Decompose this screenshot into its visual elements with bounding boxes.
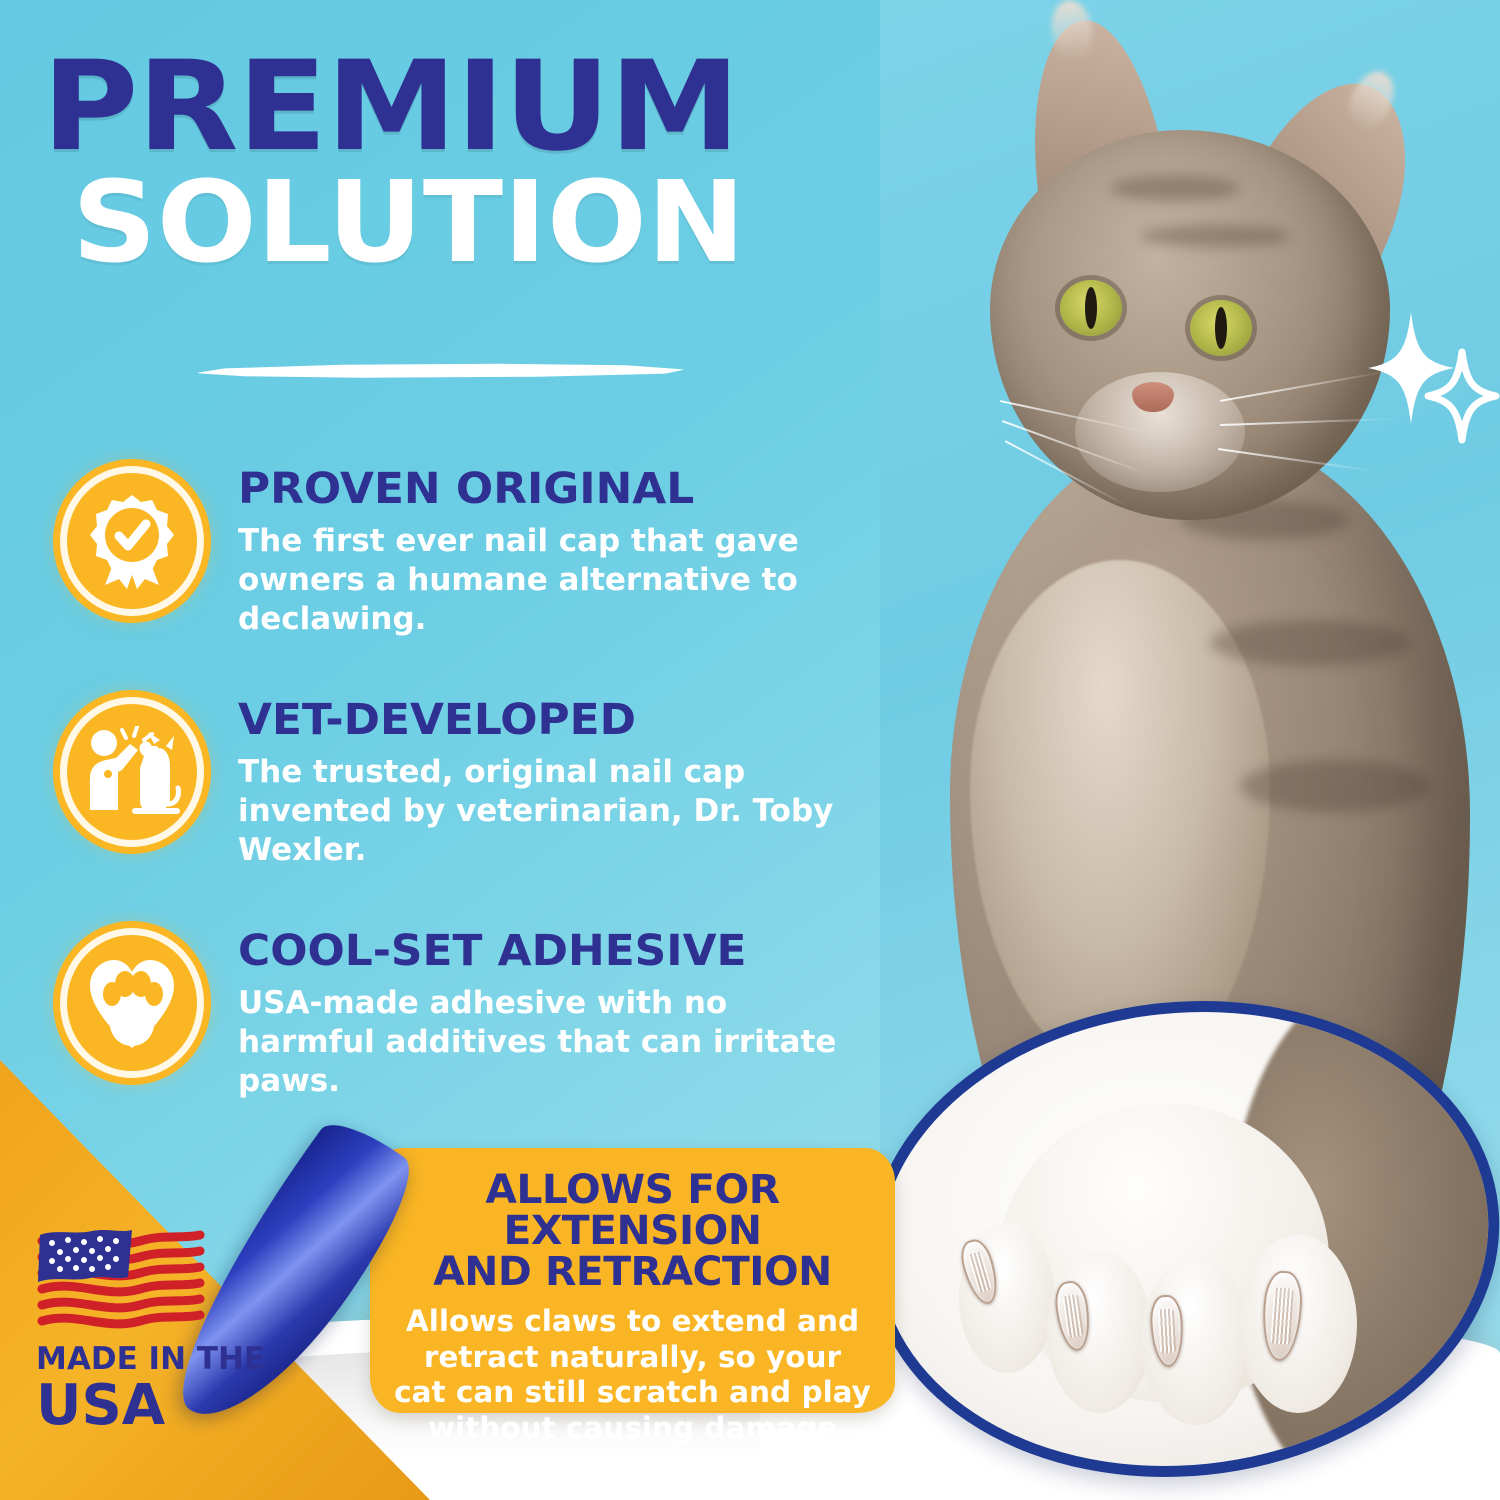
extension-retraction-callout: ALLOWS FOR EXTENSION AND RETRACTION Allo… [370,1148,895,1413]
callout-title-line-2: AND RETRACTION [389,1252,876,1293]
made-in-usa-badge: MADE IN THE USA [36,1221,266,1434]
feature-item: PROVEN ORIGINAL The first ever nail cap … [52,462,872,639]
feature-item: VET-DEVELOPED The trusted, original nail… [52,693,872,870]
swoosh-underline-icon [195,358,685,384]
title-line-2: SOLUTION [72,170,901,278]
award-ribbon-icon [52,462,212,624]
made-in-usa-line-2: USA [36,1379,266,1434]
page-title: PREMIUM SOLUTION [42,50,862,278]
callout-body: Allows claws to extend and retract natur… [394,1304,871,1446]
made-in-usa-line-1: MADE IN THE [36,1341,266,1377]
product-infographic: PREMIUM SOLUTION PROVEN ORIGINAL [0,0,1500,1500]
cat-eye-left [1060,280,1122,336]
paw-closeup-inset [845,970,1500,1500]
feature-title: VET-DEVELOPED [238,699,850,743]
heart-paw-icon [52,924,212,1086]
feature-list: PROVEN ORIGINAL The first ever nail cap … [52,462,872,1155]
feature-title: COOL-SET ADHESIVE [238,930,850,974]
sparkle-outline-icon [1424,348,1500,444]
cat-eye-right [1190,300,1252,356]
us-flag-icon [36,1221,206,1331]
callout-title-line-1: ALLOWS FOR EXTENSION [389,1170,876,1252]
feature-item: COOL-SET ADHESIVE USA-made adhesive with… [52,924,872,1101]
vet-high-five-cat-icon [52,693,212,855]
title-line-1: PREMIUM [42,50,911,164]
feature-body: USA-made adhesive with no harmful additi… [238,984,838,1101]
feature-body: The trusted, original nail cap invented … [238,753,838,870]
feature-body: The first ever nail cap that gave owners… [238,522,838,639]
feature-title: PROVEN ORIGINAL [238,468,850,512]
